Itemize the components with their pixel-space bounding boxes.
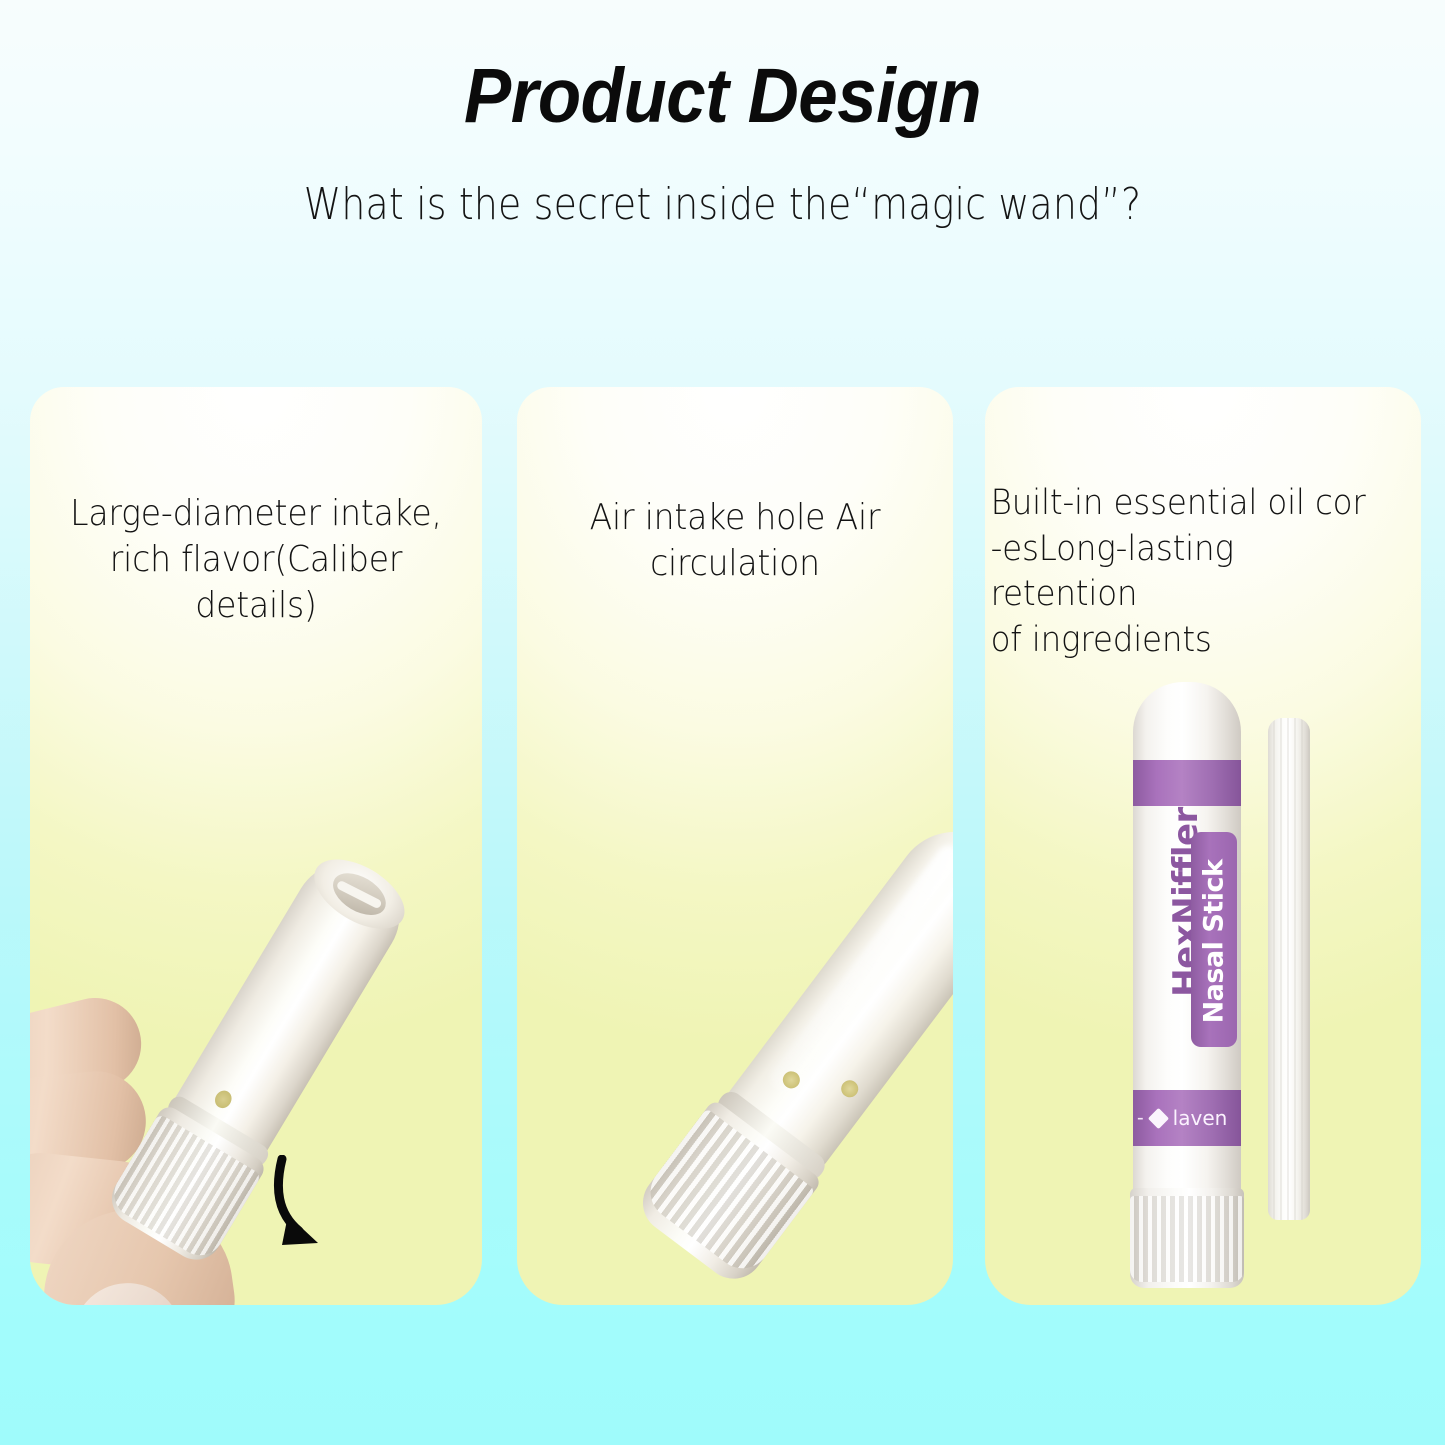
feature-cards-row: Large-diameter intake, rich flavor(Calib… xyxy=(0,387,1445,1307)
labelled-nasal-stick-with-wick-photo: HexNiffler Nasal Stick - laven xyxy=(985,672,1421,1302)
card-caption: Large-diameter intake, rich flavor(Calib… xyxy=(46,387,466,629)
card-large-diameter-intake: Large-diameter intake, rich flavor(Calib… xyxy=(30,387,482,1305)
branded-nasal-stick: HexNiffler Nasal Stick - laven xyxy=(1133,682,1241,1282)
card-air-intake-hole: Air intake hole Air circulation xyxy=(517,387,953,1305)
card-caption: Built-in essential oil cor -esLong-lasti… xyxy=(985,387,1390,663)
product-type-badge: Nasal Stick xyxy=(1191,832,1237,1047)
scent-row: - laven xyxy=(1133,1102,1241,1134)
diamond-bullet-icon xyxy=(1148,1107,1169,1128)
nasal-inhaler-tube xyxy=(654,808,953,1264)
page-subtitle: What is the secret inside the“magic wand… xyxy=(101,181,1344,229)
page-title: Product Design xyxy=(58,56,1387,137)
hand-holding-nasal-inhaler-photo xyxy=(30,817,462,1305)
card-built-in-essential-oil-cores: Built-in essential oil cor -esLong-lasti… xyxy=(985,387,1421,1305)
tilted-nasal-inhaler-photo xyxy=(521,747,953,1297)
wick-texture xyxy=(1268,718,1310,1220)
card-caption: Air intake hole Air circulation xyxy=(532,387,937,587)
page-header: Product Design What is the secret inside… xyxy=(0,0,1445,229)
curved-arrow-down-right-icon xyxy=(266,1155,356,1259)
scent-dash: - xyxy=(1137,1108,1144,1128)
essential-oil-wick-core xyxy=(1268,718,1310,1220)
stick-cap-ribs xyxy=(1130,1196,1244,1282)
scent-name-label: laven xyxy=(1173,1106,1228,1130)
product-type-label: Nasal Stick xyxy=(1199,834,1230,1048)
